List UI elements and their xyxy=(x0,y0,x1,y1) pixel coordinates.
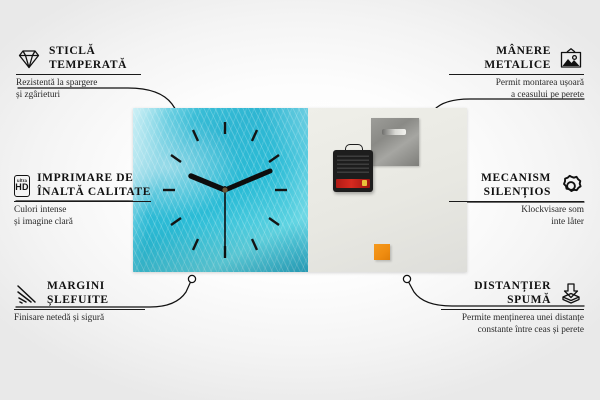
arrow-down-pad-icon xyxy=(558,282,584,306)
clock-face xyxy=(133,108,309,272)
connector-dot-polished-edges xyxy=(188,275,195,282)
feature-subtitle: Permite menținerea unei distanțe constan… xyxy=(441,313,584,335)
feature-subtitle: Culori intense și imagine clară xyxy=(14,205,151,227)
feature-foam-spacer: DISTANȚIER SPUMĂ Permite menținerea unei… xyxy=(441,280,584,336)
diamond-icon xyxy=(16,47,42,71)
ultra-hd-icon: ultra HD xyxy=(14,175,30,197)
feature-header: MÂNERE METALICE xyxy=(449,45,584,72)
movement-hook xyxy=(345,144,363,153)
feature-subtitle: Klockvisare som inte låter xyxy=(449,205,584,227)
clock-back-panel xyxy=(308,108,467,272)
movement-label xyxy=(337,155,369,173)
feature-subtitle: Finisare netedă și sigură xyxy=(14,313,145,324)
feature-polished-edges: MARGINI ȘLEFUITE Finisare netedă și sigu… xyxy=(14,280,145,325)
hands-center-cap xyxy=(222,187,227,192)
feature-header: MARGINI ȘLEFUITE xyxy=(14,280,145,307)
feature-high-quality-print: ultra HD IMPRIMARE DE ÎNALTĂ CALITATE Cu… xyxy=(14,172,151,228)
feature-subtitle: Permit montarea ușoară a ceasului pe per… xyxy=(449,78,584,100)
feature-title: MARGINI ȘLEFUITE xyxy=(47,280,109,307)
metal-hanger-plate xyxy=(371,118,419,166)
picture-frame-hanger-icon xyxy=(558,47,584,71)
gear-icon xyxy=(558,174,584,198)
connector-dot-foam-spacer xyxy=(403,275,410,282)
feature-divider xyxy=(14,201,151,202)
feature-header: STICLĂ TEMPERATĂ xyxy=(16,45,141,72)
clock-hands-and-ticks xyxy=(133,108,308,272)
feature-subtitle: Rezistentă la spargere și zgârieturi xyxy=(16,78,141,100)
polished-edge-lines-icon xyxy=(14,282,40,306)
feature-divider xyxy=(441,309,584,310)
infographic-canvas: STICLĂ TEMPERATĂ Rezistentă la spargere … xyxy=(0,0,600,400)
feature-title: IMPRIMARE DE ÎNALTĂ CALITATE xyxy=(37,172,151,199)
feature-title: MECANISM SILENȚIOS xyxy=(481,172,551,199)
feature-header: DISTANȚIER SPUMĂ xyxy=(441,280,584,307)
feature-metal-handles: MÂNERE METALICE Permit montarea ușoară a… xyxy=(449,45,584,101)
feature-title: DISTANȚIER SPUMĂ xyxy=(474,280,551,307)
feature-tempered-glass: STICLĂ TEMPERATĂ Rezistentă la spargere … xyxy=(16,45,141,101)
hour-hand xyxy=(191,176,225,190)
hanger-slot xyxy=(382,129,406,135)
product-photo xyxy=(133,108,467,272)
feature-silent-mechanism: MECANISM SILENȚIOS Klockvisare som inte … xyxy=(449,172,584,228)
foam-spacer-pad xyxy=(374,244,390,260)
battery-terminal xyxy=(362,180,367,186)
feature-title: STICLĂ TEMPERATĂ xyxy=(49,45,127,72)
clock-movement-box xyxy=(333,150,373,192)
battery xyxy=(336,179,370,188)
feature-divider xyxy=(14,309,145,310)
feature-title: MÂNERE METALICE xyxy=(484,45,551,72)
minute-hand xyxy=(225,171,270,190)
feature-divider xyxy=(449,201,584,202)
feature-header: ultra HD IMPRIMARE DE ÎNALTĂ CALITATE xyxy=(14,172,151,199)
feature-divider xyxy=(449,74,584,75)
feature-divider xyxy=(16,74,141,75)
feature-header: MECANISM SILENȚIOS xyxy=(449,172,584,199)
